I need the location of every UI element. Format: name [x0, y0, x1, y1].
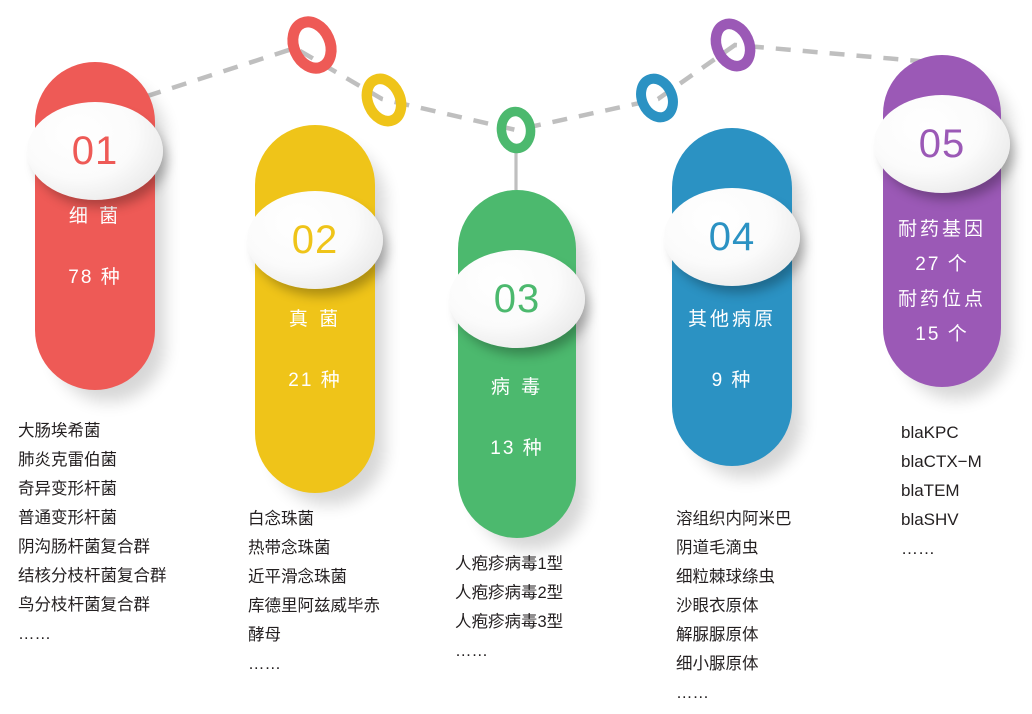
list-item: 阴道毛滴虫 [676, 534, 792, 563]
pillar-01-item-list: 大肠埃希菌 肺炎克雷伯菌 奇异变形杆菌 普通变形杆菌 阴沟肠杆菌复合群 结核分枝… [18, 417, 167, 649]
pillar-02-number: 02 [292, 220, 339, 260]
pillar-04-number-badge[interactable]: 04 [664, 188, 800, 286]
pillar-01-text-block: 细 菌 78 种 [35, 207, 155, 289]
pillar-05-number-badge[interactable]: 05 [874, 95, 1010, 193]
pillar-04-text-block: 其他病原 9 种 [672, 310, 792, 392]
pillar-02-number-badge[interactable]: 02 [247, 191, 383, 289]
pillar-05-item-list: blaKPC blaCTX−M blaTEM blaSHV …… [901, 418, 982, 563]
list-item: 人疱疹病毒2型 [455, 579, 563, 608]
pillar-04-count: 9 种 [672, 371, 792, 392]
pillar-02-text-block: 真 菌 21 种 [255, 310, 375, 392]
pillar-01-number: 01 [72, 131, 119, 171]
pillar-02-count: 21 种 [255, 371, 375, 392]
list-item: 大肠埃希菌 [18, 417, 167, 446]
infographic-canvas: 细 菌 78 种 01 大肠埃希菌 肺炎克雷伯菌 奇异变形杆菌 普通变形杆菌 阴… [0, 0, 1032, 714]
pillar-05-title: 耐药基因 [883, 220, 1001, 241]
list-item-ellipsis: …… [248, 650, 380, 679]
list-item: 阴沟肠杆菌复合群 [18, 533, 167, 562]
list-item: blaSHV [901, 505, 982, 534]
list-item: 人疱疹病毒1型 [455, 550, 563, 579]
list-item: 酵母 [248, 621, 380, 650]
list-item: 结核分枝杆菌复合群 [18, 562, 167, 591]
list-item: 热带念珠菌 [248, 534, 380, 563]
ring-icon-02 [360, 73, 407, 126]
list-item: 库德里阿兹威毕赤 [248, 592, 380, 621]
list-item: 白念珠菌 [248, 505, 380, 534]
list-item-ellipsis: …… [901, 534, 982, 563]
pillar-03-number: 03 [494, 279, 541, 319]
pillar-04-number: 04 [709, 217, 756, 257]
list-item: blaKPC [901, 418, 982, 447]
list-item-ellipsis: …… [455, 637, 563, 666]
pillar-03-virus[interactable]: 病 毒 13 种 [458, 190, 576, 538]
pillar-03-number-badge[interactable]: 03 [449, 250, 585, 348]
pillar-05-count-2: 15 个 [883, 325, 1001, 346]
list-item: 肺炎克雷伯菌 [18, 446, 167, 475]
pillar-02-title: 真 菌 [255, 310, 375, 331]
pillar-05-number: 05 [919, 124, 966, 164]
pillar-01-title: 细 菌 [35, 207, 155, 228]
list-item: blaTEM [901, 476, 982, 505]
pillar-01-count: 78 种 [35, 268, 155, 289]
list-item: 沙眼衣原体 [676, 592, 792, 621]
list-item: 解脲脲原体 [676, 621, 792, 650]
pillar-05-count: 27 个 [883, 255, 1001, 276]
ring-icon-05 [709, 18, 756, 71]
pillar-02-item-list: 白念珠菌 热带念珠菌 近平滑念珠菌 库德里阿兹威毕赤 酵母 …… [248, 505, 380, 679]
ring-icon-04 [635, 74, 679, 123]
list-item: 近平滑念珠菌 [248, 563, 380, 592]
pillar-04-item-list: 溶组织内阿米巴 阴道毛滴虫 细粒棘球绦虫 沙眼衣原体 解脲脲原体 细小脲原体 …… [676, 505, 792, 708]
ring-icon-03 [500, 110, 533, 150]
ring-icon-01 [286, 16, 338, 74]
dashed-connector-line [95, 45, 930, 130]
pillar-04-title: 其他病原 [672, 310, 792, 331]
list-item: 溶组织内阿米巴 [676, 505, 792, 534]
pillar-05-title-2: 耐药位点 [883, 290, 1001, 311]
list-item: 普通变形杆菌 [18, 504, 167, 533]
pillar-03-count: 13 种 [458, 439, 576, 460]
list-item-ellipsis: …… [18, 620, 167, 649]
pillar-03-text-block: 病 毒 13 种 [458, 378, 576, 460]
pillar-03-title: 病 毒 [458, 378, 576, 399]
pillar-03-item-list: 人疱疹病毒1型 人疱疹病毒2型 人疱疹病毒3型 …… [455, 550, 563, 666]
list-item: 鸟分枝杆菌复合群 [18, 591, 167, 620]
list-item: 人疱疹病毒3型 [455, 608, 563, 637]
pillar-01-number-badge[interactable]: 01 [27, 102, 163, 200]
list-item-ellipsis: …… [676, 679, 792, 708]
list-item: 奇异变形杆菌 [18, 475, 167, 504]
list-item: blaCTX−M [901, 447, 982, 476]
list-item: 细粒棘球绦虫 [676, 563, 792, 592]
list-item: 细小脲原体 [676, 650, 792, 679]
pillar-05-text-block: 耐药基因 27 个 耐药位点 15 个 [883, 220, 1001, 346]
pillar-02-fungi[interactable]: 真 菌 21 种 [255, 125, 375, 493]
pillar-04-other-pathogens[interactable]: 其他病原 9 种 [672, 128, 792, 466]
